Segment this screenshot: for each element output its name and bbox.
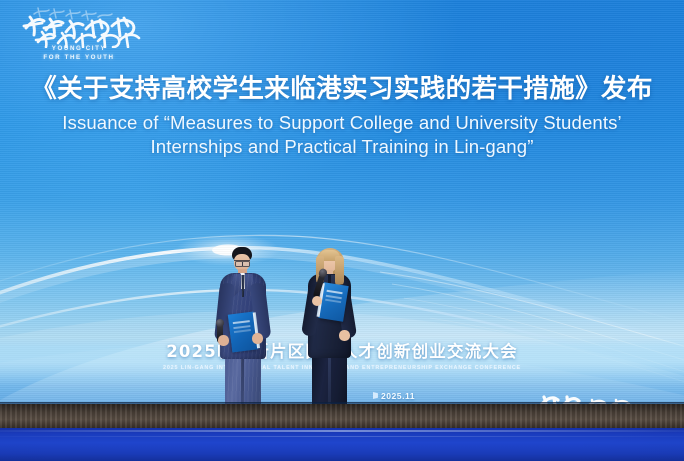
carpet-light-strip-1 bbox=[0, 430, 684, 432]
stage-photo-scene: YOUNG CITY FOR THE YOUTH 《关于支持高校学生来临港实习实… bbox=[0, 0, 684, 461]
led-screen-background bbox=[0, 0, 684, 412]
stage-carpet bbox=[0, 428, 684, 461]
stage-apron-panel bbox=[0, 404, 684, 428]
carpet-light-strip-2 bbox=[0, 436, 684, 437]
